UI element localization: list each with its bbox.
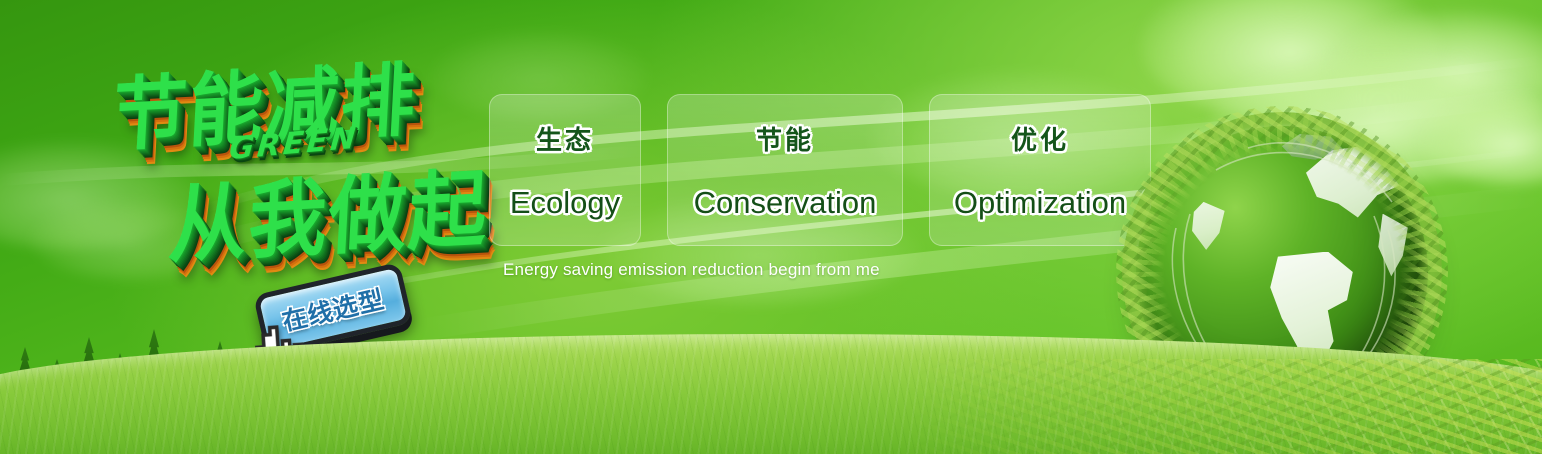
continent-greenland — [1189, 202, 1233, 252]
feature-en-label: Conservation — [694, 185, 877, 221]
logo-line-2: 从我做起 — [166, 141, 492, 279]
feature-box-ecology[interactable]: 生态 Ecology — [489, 94, 641, 246]
feature-cn-label: 节能 — [756, 120, 814, 157]
leaf-litter — [902, 359, 1542, 454]
feature-cn-label: 生态 — [536, 120, 594, 157]
feature-box-conservation[interactable]: 节能 Conservation — [667, 94, 903, 246]
feature-box-group: 生态 Ecology 节能 Conservation 优化 Optimizati… — [489, 94, 1151, 246]
cloud-icon — [1140, 0, 1440, 120]
feature-cn-label: 优化 — [1011, 120, 1069, 157]
continent-africa — [1375, 214, 1411, 278]
cloud-icon — [1420, 95, 1542, 185]
feature-en-label: Ecology — [510, 185, 620, 221]
feature-en-label: Optimization — [954, 185, 1126, 221]
banner-tagline: Energy saving emission reduction begin f… — [503, 260, 880, 280]
campaign-logo: 节能减排 GREEN 从我做起 — [94, 28, 505, 279]
eco-promo-banner: 节能减排 GREEN 从我做起 在线选型 生态 Ecology 节能 Conse… — [0, 0, 1542, 454]
cloud-icon — [1330, 10, 1542, 130]
feature-box-optimization[interactable]: 优化 Optimization — [929, 94, 1151, 246]
